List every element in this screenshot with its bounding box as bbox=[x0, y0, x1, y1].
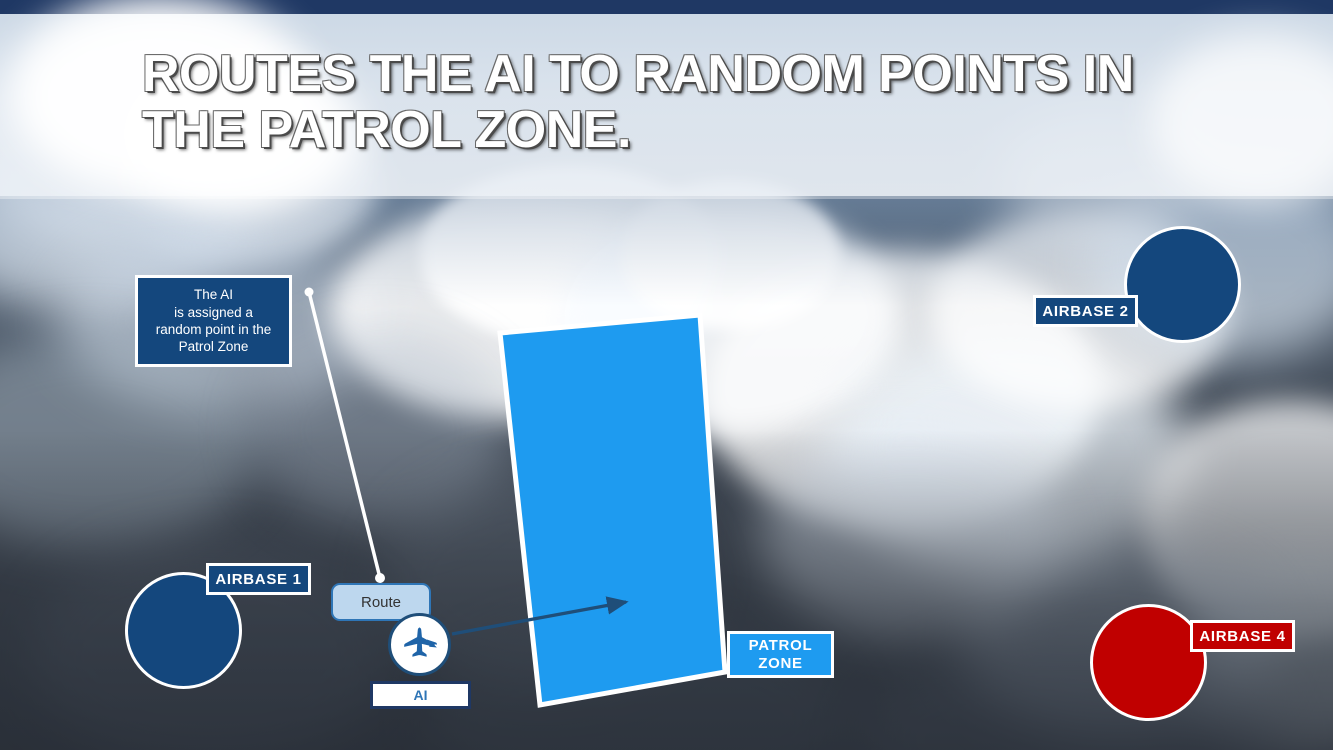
fighter-jet-icon[interactable] bbox=[388, 613, 451, 676]
leader-line-start-dot bbox=[305, 288, 314, 297]
slide-canvas: ROUTES THE AI TO RANDOM POINTS IN THE PA… bbox=[0, 0, 1333, 750]
airbase-1-label[interactable]: AIRBASE 1 bbox=[206, 563, 311, 595]
airbase-2-label[interactable]: AIRBASE 2 bbox=[1033, 295, 1138, 327]
leader-line-end-dot bbox=[375, 573, 385, 583]
ai-assignment-callout: The AI is assigned a random point in the… bbox=[135, 275, 292, 367]
diagram-layer: AIRBASE 1 AIRBASE 2 AIRBASE 4 PATROL ZON… bbox=[0, 0, 1333, 750]
airbase-2-marker[interactable] bbox=[1124, 226, 1241, 343]
patrol-zone-shape[interactable] bbox=[500, 315, 725, 705]
patrol-zone-label[interactable]: PATROL ZONE bbox=[727, 631, 834, 678]
callout-leader-line bbox=[309, 292, 380, 578]
ai-marker-label[interactable]: AI bbox=[370, 681, 471, 709]
airbase-4-label[interactable]: AIRBASE 4 bbox=[1190, 620, 1295, 652]
